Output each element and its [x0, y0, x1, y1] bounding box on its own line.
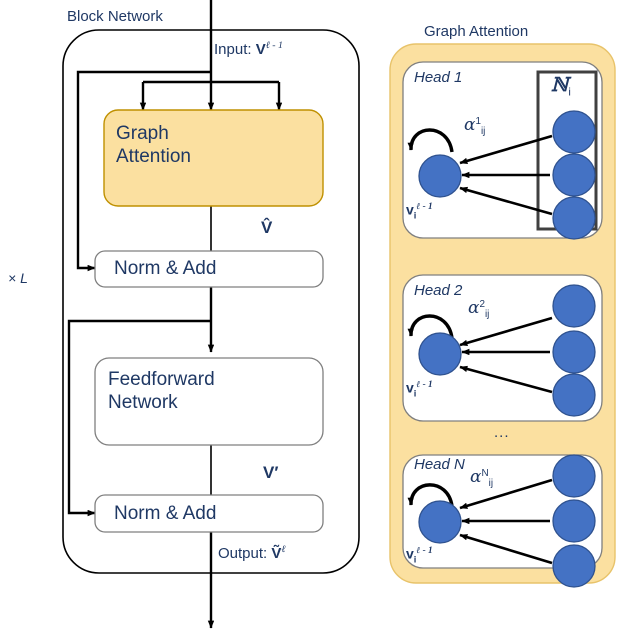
center-node-superscript: ℓ - 1 [416, 379, 432, 389]
head-n-center-node-label: viℓ - 1 [406, 546, 433, 565]
output-label-text: Output: [218, 545, 271, 562]
heads-ellipsis: ... [494, 425, 510, 441]
intermediate-v-hat-label: V̂ [261, 219, 272, 237]
alpha-symbol: α [464, 115, 475, 135]
center-node-subscript: i [414, 210, 417, 220]
input-label-text: Input: [214, 41, 256, 58]
center-node-symbol: v [406, 202, 414, 218]
center-node-symbol: v [406, 546, 414, 562]
center-node-superscript: ℓ - 1 [416, 545, 432, 555]
alpha-superscript: N [481, 468, 488, 479]
output-superscript: ℓ [281, 544, 285, 555]
head-n-alpha-label: αNij [470, 469, 493, 489]
head-1-label: Head 1 [414, 70, 462, 86]
center-node-symbol: v [406, 380, 414, 396]
figure-canvas: Block Network × L Input: Vℓ - 1 V̂ V′ Ou… [0, 0, 632, 638]
alpha-symbol: α [470, 467, 481, 487]
center-node-subscript: i [414, 388, 417, 398]
head-n-label: Head N [414, 457, 465, 473]
neighborhood-subscript: i [568, 86, 571, 98]
head-2-center-node-label: viℓ - 1 [406, 380, 433, 399]
graph-attention-panel-title: Graph Attention [424, 24, 528, 40]
norm-add-block-2-label: Norm & Add [114, 502, 320, 525]
output-symbol: Ṽ [271, 545, 281, 562]
input-superscript: ℓ - 1 [266, 40, 283, 51]
feedforward-block-label: Feedforward Network [108, 368, 320, 414]
center-node-superscript: ℓ - 1 [416, 201, 432, 211]
repeat-count-label: × L [8, 271, 28, 286]
output-label: Output: Ṽℓ [218, 545, 286, 562]
alpha-symbol: α [468, 298, 479, 318]
head-2-alpha-label: α2ij [468, 300, 489, 320]
head-1-alpha-label: α1ij [464, 117, 485, 137]
graph-attention-block-label: Graph Attention [116, 122, 316, 168]
norm-add-block-1-label: Norm & Add [114, 257, 320, 280]
alpha-subscript: ij [485, 309, 489, 320]
input-symbol: V [256, 41, 266, 58]
head-1-center-node-label: viℓ - 1 [406, 202, 433, 221]
alpha-subscript: ij [481, 126, 485, 137]
head-2-label: Head 2 [414, 283, 462, 299]
input-label: Input: Vℓ - 1 [214, 41, 283, 58]
alpha-subscript: ij [489, 478, 493, 489]
neighborhood-label: ℕi [551, 76, 571, 99]
neighborhood-symbol: ℕ [551, 74, 568, 96]
center-node-subscript: i [414, 554, 417, 564]
intermediate-v-prime-label: V′ [263, 464, 278, 482]
diagram-vector-layer [0, 0, 632, 638]
block-network-title: Block Network [67, 9, 163, 25]
